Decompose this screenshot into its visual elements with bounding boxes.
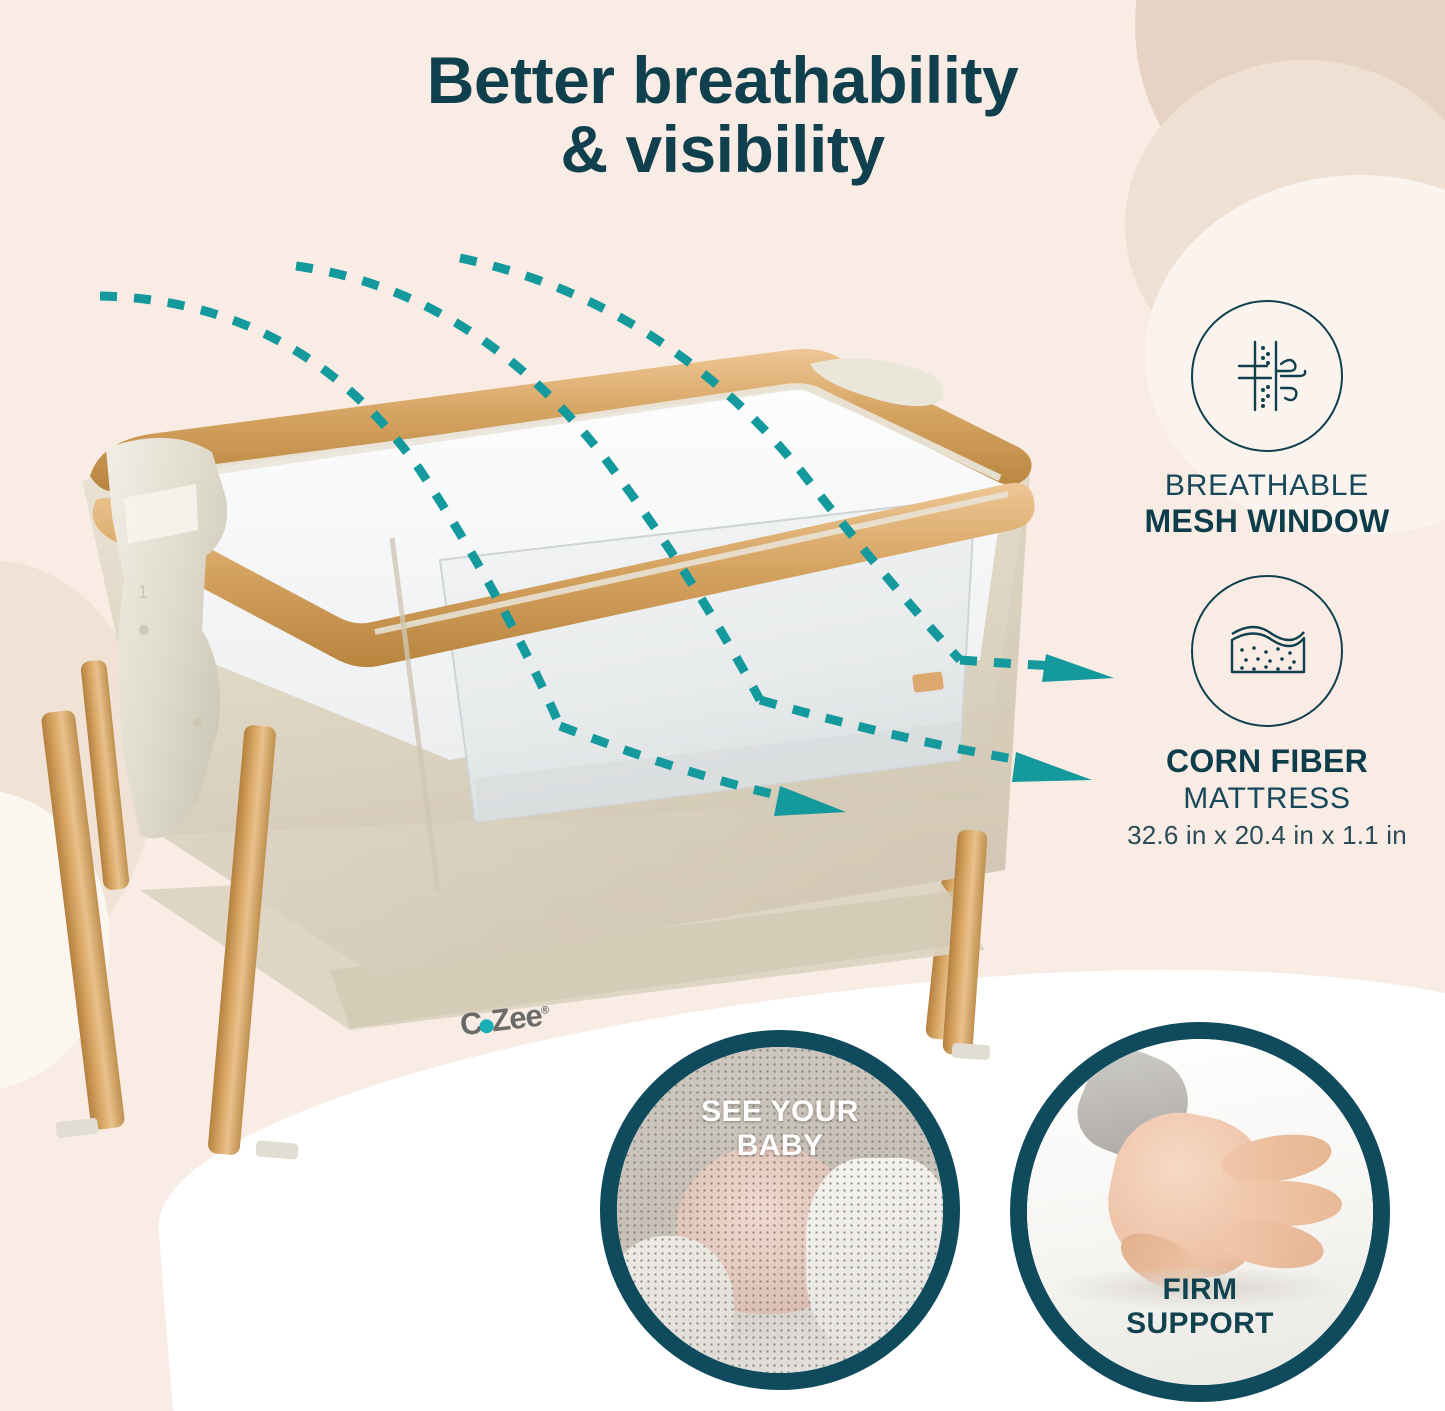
feature-2-label-light: MATTRESS bbox=[1097, 781, 1437, 816]
feature-2-label-bold: CORN FIBER bbox=[1097, 743, 1437, 781]
inset-2-caption-line-1: FIRM bbox=[1163, 1273, 1238, 1306]
feature-corn-fiber-mattress: CORN FIBER MATTRESS 32.6 in x 20.4 in x … bbox=[1097, 575, 1437, 851]
inset-caption-see-your-baby: SEE YOUR BABY bbox=[617, 1095, 943, 1163]
mesh-airflow-icon bbox=[1191, 300, 1343, 452]
feature-breathable-mesh-window: BREATHABLE MESH WINDOW bbox=[1097, 300, 1437, 541]
product-infographic: Better breathability & visibility bbox=[0, 0, 1445, 1411]
feature-1-label-light: BREATHABLE bbox=[1097, 468, 1437, 503]
registered-mark: ® bbox=[540, 1004, 549, 1017]
headline-line-1: Better breathability bbox=[427, 43, 1018, 117]
mattress-layer-icon bbox=[1191, 575, 1343, 727]
inset-1-caption-line-2: BABY bbox=[737, 1129, 824, 1162]
inset-see-your-baby: SEE YOUR BABY bbox=[600, 1030, 960, 1390]
page-title: Better breathability & visibility bbox=[0, 46, 1445, 185]
feature-list: BREATHABLE MESH WINDOW bbox=[1097, 300, 1437, 885]
inset-2-caption-line-2: SUPPORT bbox=[1126, 1307, 1274, 1340]
bassinet-product-image: 1 CZee® bbox=[20, 330, 1080, 1130]
inset-firm-support: FIRM SUPPORT bbox=[1010, 1022, 1390, 1402]
mattress-dimensions: 32.6 in x 20.4 in x 1.1 in bbox=[1097, 820, 1437, 851]
bassinet-body-svg: 1 bbox=[20, 330, 1080, 1130]
inset-1-caption-line-1: SEE YOUR bbox=[701, 1095, 859, 1128]
bassinet-foot-right bbox=[952, 1043, 991, 1061]
inset-caption-firm-support: FIRM SUPPORT bbox=[1027, 1273, 1373, 1341]
feature-1-label-bold: MESH WINDOW bbox=[1097, 503, 1437, 541]
svg-text:1: 1 bbox=[138, 582, 148, 602]
headline-line-2: & visibility bbox=[0, 115, 1445, 184]
